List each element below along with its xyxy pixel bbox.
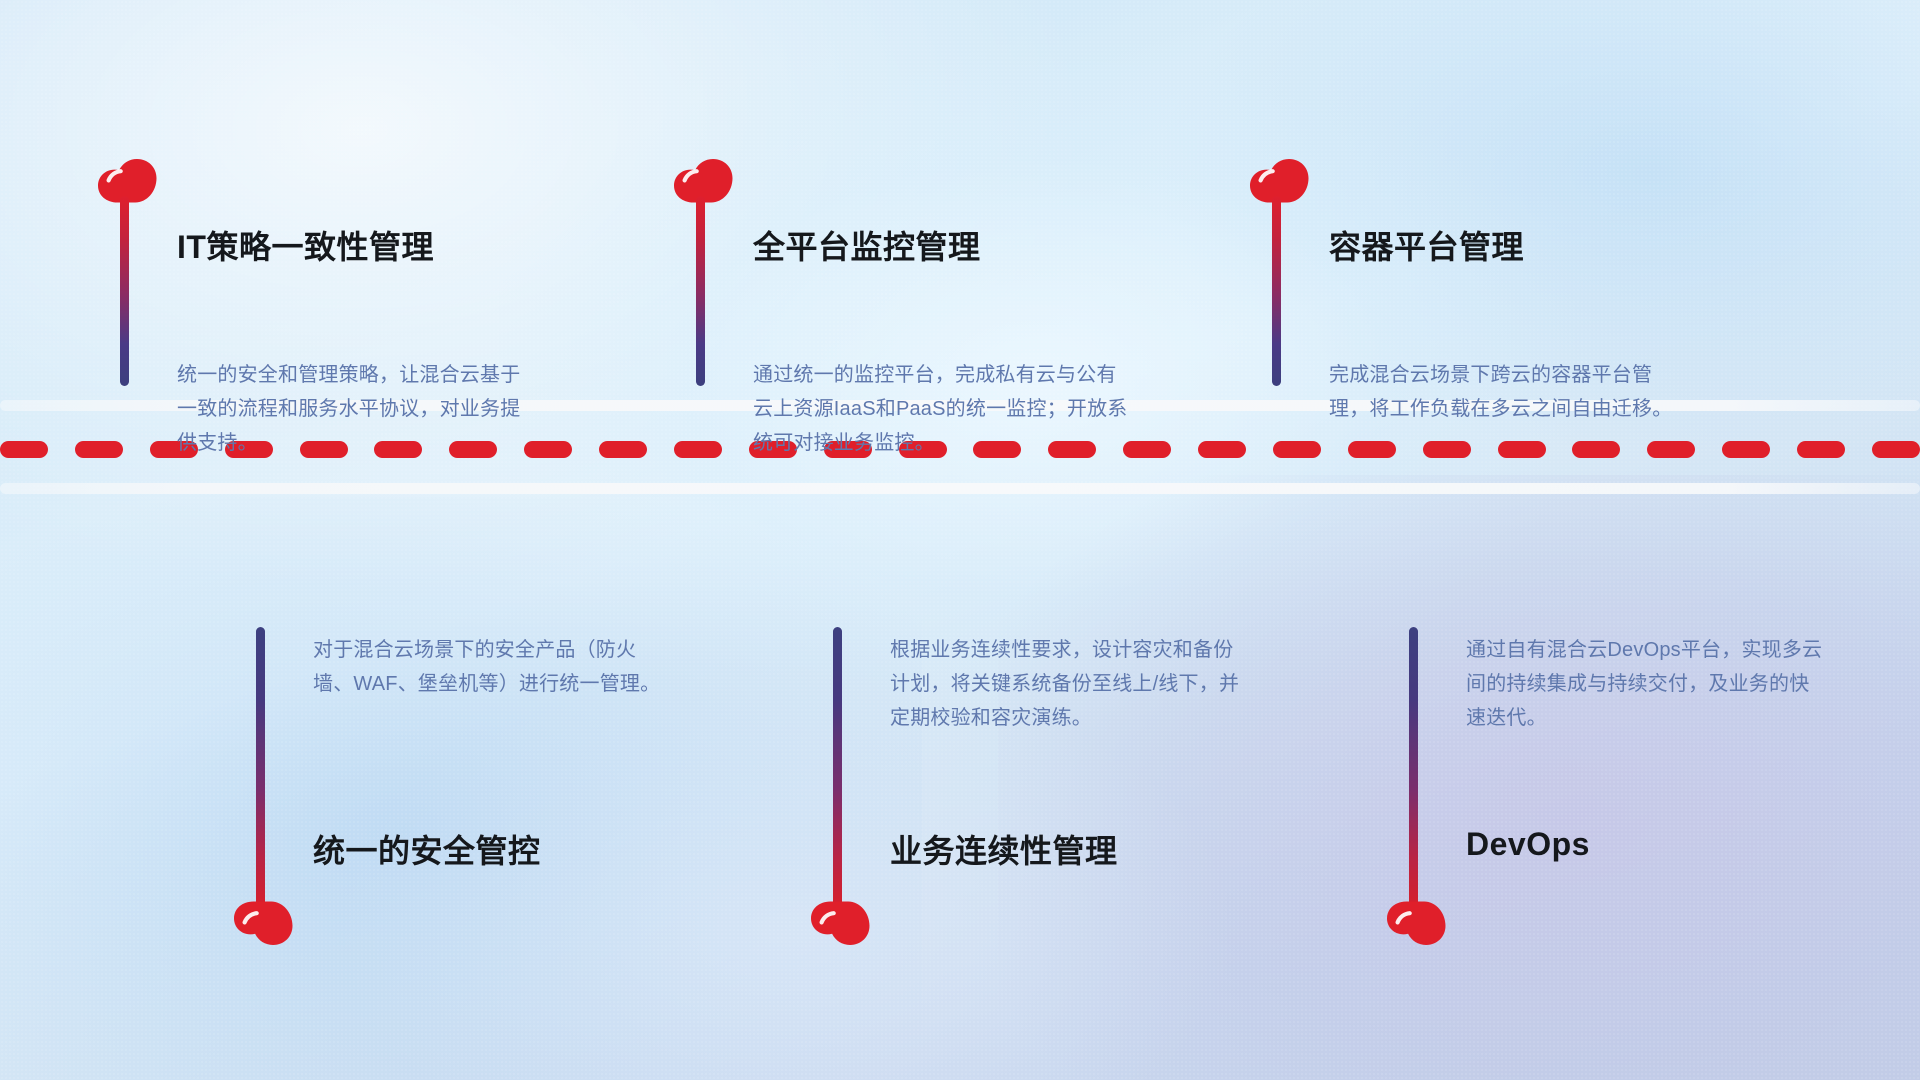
road-dash-segment <box>1647 441 1695 458</box>
road-dash-segment <box>1198 441 1246 458</box>
road-dash-segment <box>674 441 722 458</box>
cloud-pin-icon <box>809 900 871 946</box>
card-heading: 容器平台管理 <box>1329 222 1524 268</box>
infographic-canvas: IT策略一致性管理 统一的安全和管理策略，让混合云基于一致的流程和服务水平协议，… <box>0 0 1920 1080</box>
road-dash-segment <box>599 441 647 458</box>
road-dash-segment <box>1872 441 1920 458</box>
card-heading: 全平台监控管理 <box>753 222 981 268</box>
road-dash-segment <box>1572 441 1620 458</box>
road-dash-segment <box>1348 441 1396 458</box>
road-dash-segment <box>1722 441 1770 458</box>
cloud-pin-icon <box>1385 900 1447 946</box>
connector-stem <box>833 627 842 907</box>
card-body: 对于混合云场景下的安全产品（防火墙、WAF、堡垒机等）进行统一管理。 <box>313 633 673 701</box>
cloud-pin-icon <box>232 900 294 946</box>
card-heading: 业务连续性管理 <box>890 826 1118 872</box>
road-dash-segment <box>1273 441 1321 458</box>
connector-stem <box>1272 196 1281 386</box>
card-heading: DevOps <box>1466 826 1590 863</box>
card-body: 完成混合云场景下跨云的容器平台管理，将工作负载在多云之间自由迁移。 <box>1329 358 1689 426</box>
road-dash-segment <box>1423 441 1471 458</box>
connector-stem <box>1409 627 1418 907</box>
card-body: 根据业务连续性要求，设计容灾和备份计划，将关键系统备份至线上/线下，并定期校验和… <box>890 633 1250 735</box>
road-line-bottom <box>0 483 1920 494</box>
connector-stem <box>120 196 129 386</box>
road-dash-segment <box>0 441 48 458</box>
card-heading: IT策略一致性管理 <box>177 222 434 268</box>
card-heading: 统一的安全管控 <box>313 826 541 872</box>
card-body: 统一的安全和管理策略，让混合云基于一致的流程和服务水平协议，对业务提供支持。 <box>177 358 537 460</box>
card-body: 通过统一的监控平台，完成私有云与公有云上资源IaaS和PaaS的统一监控；开放系… <box>753 358 1133 460</box>
road-dash-segment <box>1498 441 1546 458</box>
road-dash-segment <box>1797 441 1845 458</box>
road-dash-segment <box>75 441 123 458</box>
card-body: 通过自有混合云DevOps平台，实现多云间的持续集成与持续交付，及业务的快速迭代… <box>1466 633 1826 735</box>
connector-stem <box>696 196 705 386</box>
connector-stem <box>256 627 265 907</box>
